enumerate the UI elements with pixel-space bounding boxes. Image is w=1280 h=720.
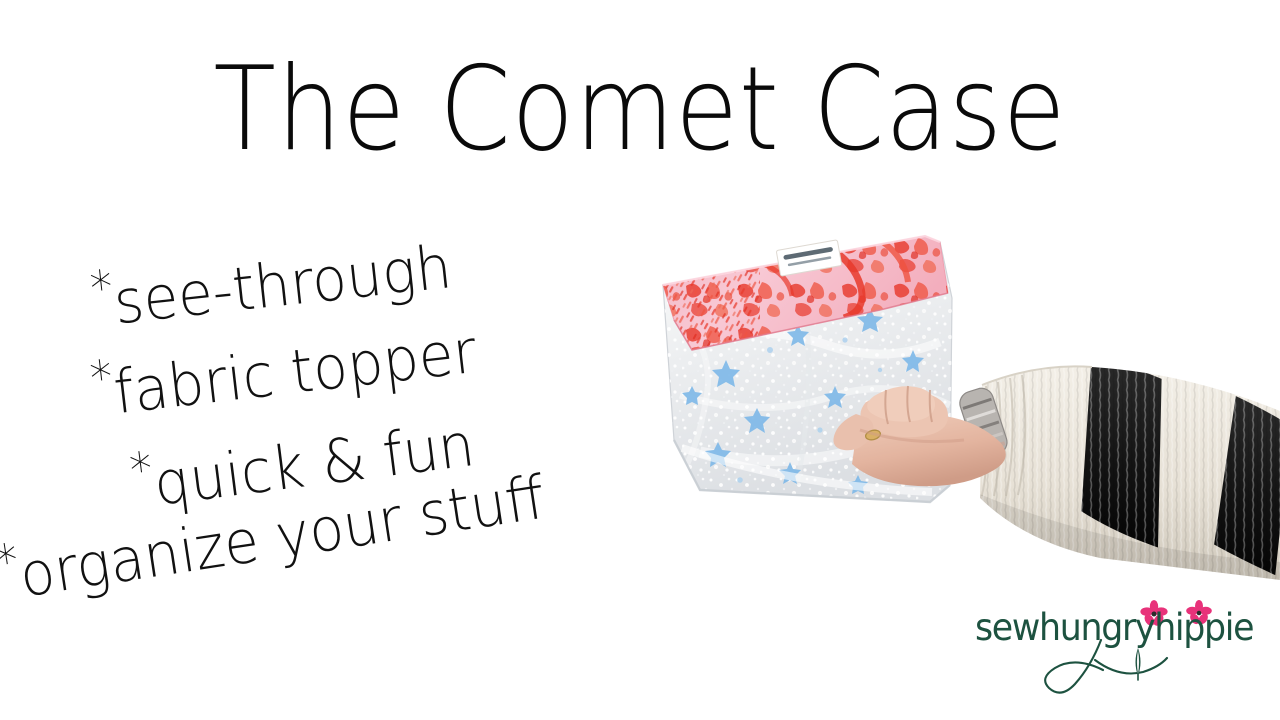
sweater-sleeve bbox=[960, 350, 1280, 602]
product-photo bbox=[630, 190, 1280, 640]
brand-wordmark: sewhungryhippie bbox=[975, 606, 1234, 649]
slide-canvas: The Comet Case *see-through *fabric topp… bbox=[0, 0, 1280, 720]
feature-list: *see-through *fabric topper *quick & fun… bbox=[0, 245, 700, 605]
page-title: The Comet Case bbox=[77, 52, 1203, 168]
brand-logo: sewhungryhippie bbox=[975, 600, 1250, 695]
sewing-needle-icon bbox=[1136, 648, 1141, 680]
